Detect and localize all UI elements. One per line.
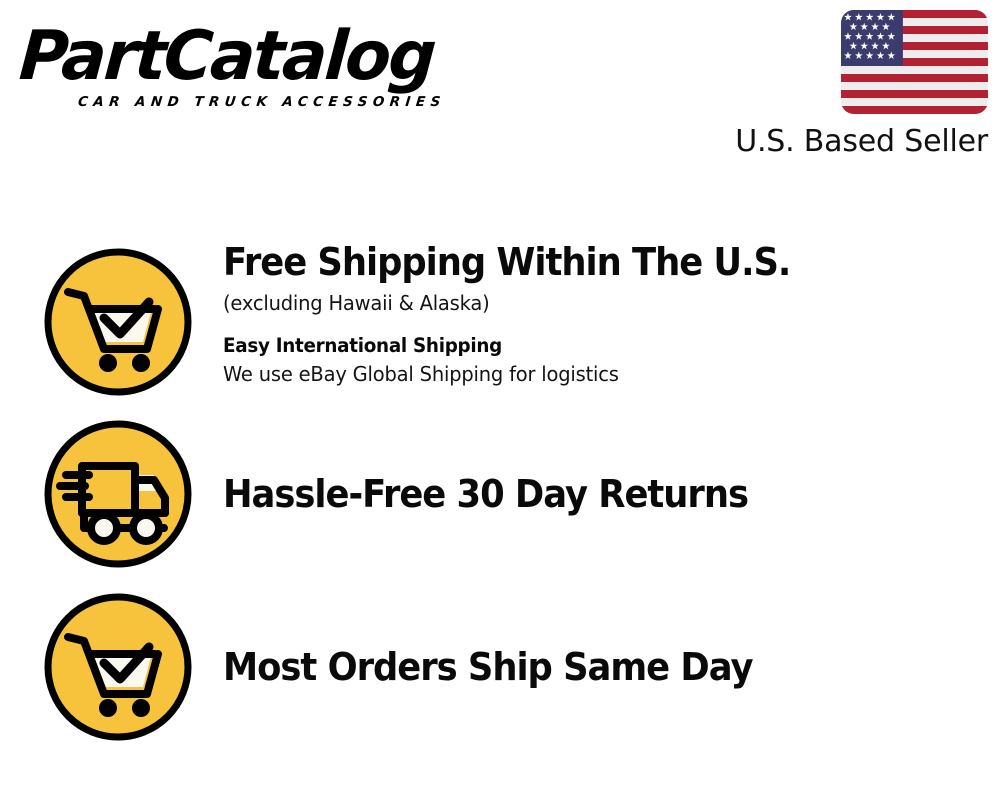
us-flag-icon — [841, 10, 988, 114]
delivery-truck-icon — [42, 418, 194, 570]
us-based-seller-badge: U.S. Based Seller — [718, 10, 988, 159]
feature-subtitle-bold: Easy International Shipping — [223, 333, 944, 358]
feature-title: Hassle-Free 30 Day Returns — [223, 472, 936, 516]
feature-row: Most Orders Ship Same Day — [0, 588, 1000, 743]
feature-row: Hassle-Free 30 Day Returns — [0, 415, 1000, 570]
cart-check-svg — [42, 246, 194, 398]
feature-text-block: Free Shipping Within The U.S. (excluding… — [223, 240, 990, 388]
page-header: PartCatalog CAR AND TRUCK ACCESSORIES — [0, 0, 1000, 165]
cart-check-svg — [42, 591, 194, 743]
feature-title: Most Orders Ship Same Day — [223, 645, 936, 689]
shopping-cart-check-icon — [42, 591, 194, 743]
shopping-cart-check-icon — [42, 246, 194, 398]
feature-subtitle-detail: We use eBay Global Shipping for logistic… — [223, 361, 952, 388]
brand-tagline: CAR AND TRUCK ACCESSORIES — [77, 94, 446, 110]
feature-subtitle: (excluding Hawaii & Alaska) — [223, 290, 952, 316]
us-based-seller-label: U.S. Based Seller — [718, 125, 988, 159]
brand-wordmark: PartCatalog — [17, 22, 482, 92]
feature-text-block: Hassle-Free 30 Day Returns — [223, 472, 990, 516]
us-flag-svg — [841, 10, 988, 114]
brand-logo[interactable]: PartCatalog CAR AND TRUCK ACCESSORIES — [22, 22, 492, 114]
delivery-truck-svg — [42, 418, 194, 570]
feature-text-block: Most Orders Ship Same Day — [223, 645, 990, 689]
feature-title: Free Shipping Within The U.S. — [223, 240, 936, 284]
feature-row: Free Shipping Within The U.S. (excluding… — [0, 240, 1000, 410]
